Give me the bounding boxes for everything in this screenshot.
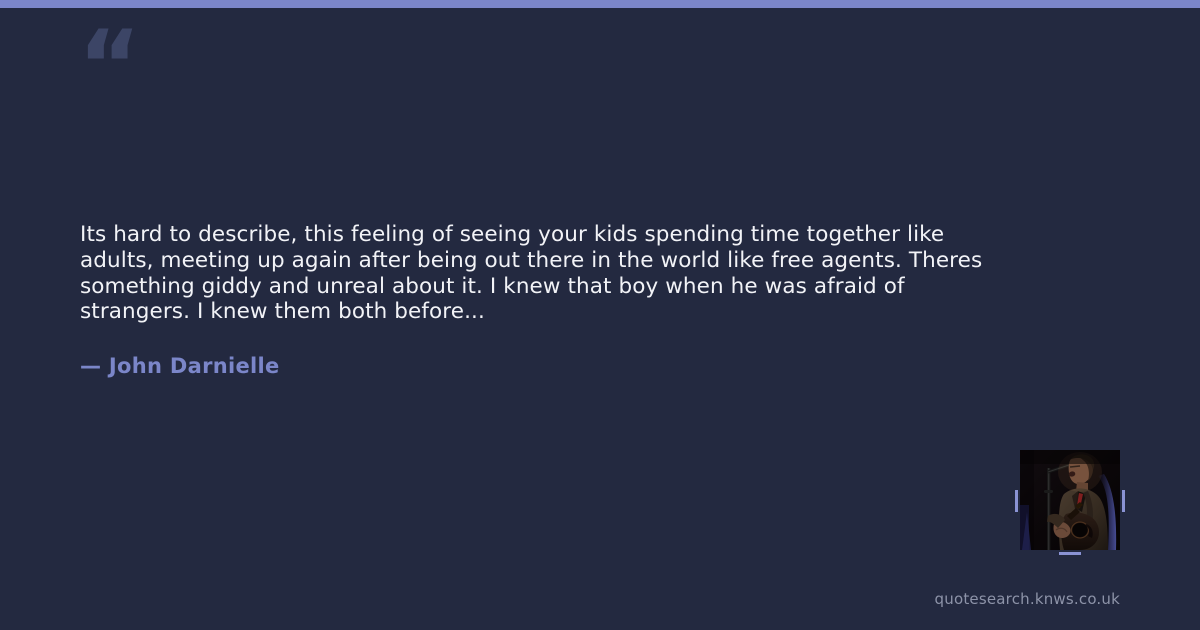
frame-bracket-left-icon [1015,490,1018,512]
quote-text: Its hard to describe, this feeling of se… [80,222,1010,325]
author-photo-frame [1020,450,1120,550]
site-url-footer: quotesearch.knws.co.uk [935,590,1120,608]
frame-bracket-bottom-icon [1059,552,1081,555]
quote-body: Its hard to describe, this feeling of se… [80,222,1010,325]
quote-card: “ Its hard to describe, this feeling of … [0,0,1200,630]
top-accent-bar [0,0,1200,8]
open-quote-icon: “ [78,18,139,114]
quote-attribution: — John Darnielle [80,354,280,378]
frame-bracket-right-icon [1122,490,1125,512]
author-photo [1020,450,1120,550]
